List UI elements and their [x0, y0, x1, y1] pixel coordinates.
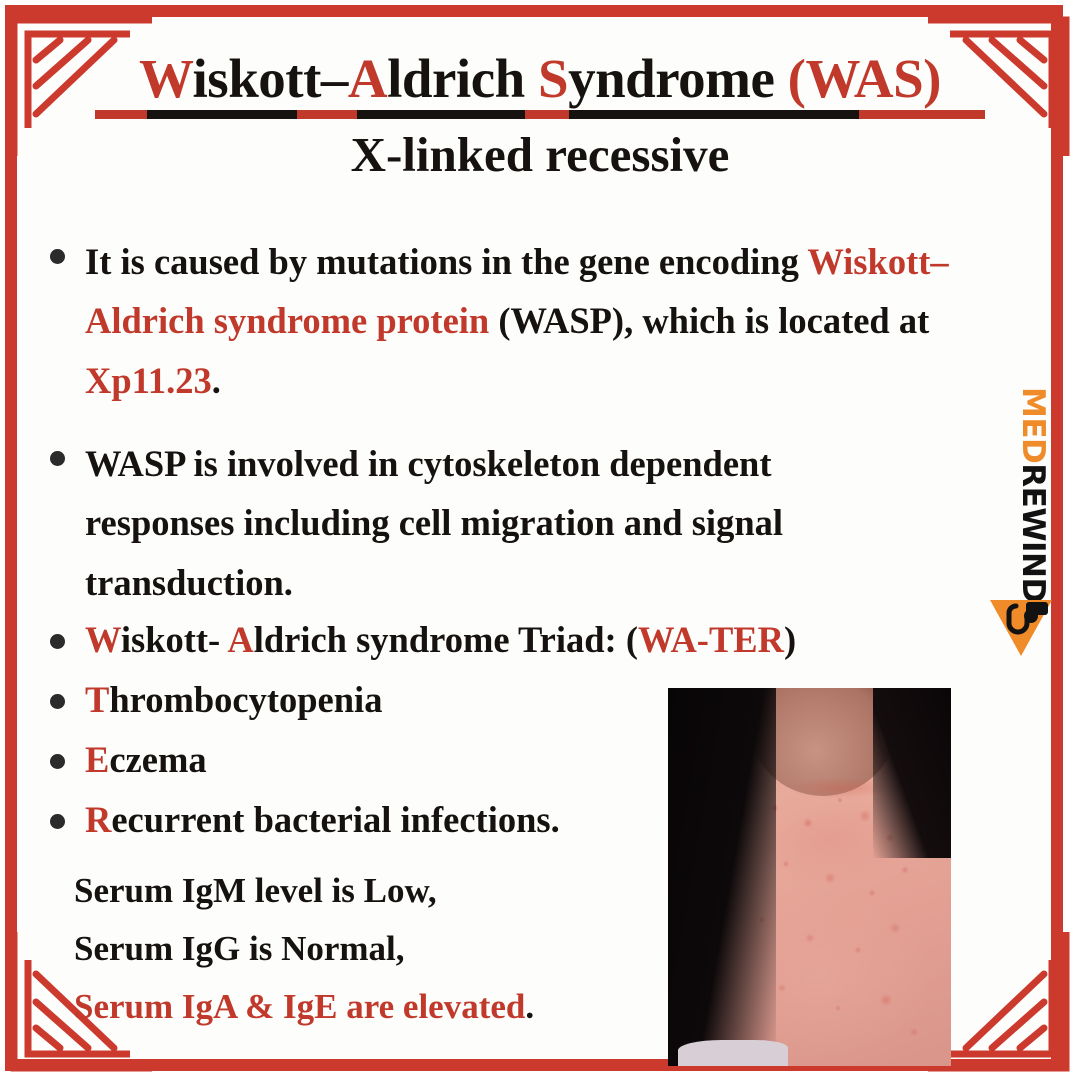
bullet-dot [50, 814, 65, 829]
bullet-text: It is caused by mutations in the gene en… [85, 232, 950, 410]
watermark-brand-text: MEDREWIND [1015, 387, 1051, 597]
title-underline [95, 110, 985, 119]
page-subtitle: X-linked recessive [22, 129, 1058, 180]
bullet-item-recurrent-infections: Recurrent bacterial infections. [50, 800, 690, 841]
title-abbreviation: (WAS) [788, 48, 941, 109]
title-letter-a: A [348, 48, 387, 109]
bullet-item-cause: It is caused by mutations in the gene en… [50, 232, 950, 410]
watermark-medrewind: MEDREWIND [990, 382, 1052, 682]
bullet-text: Eczema [85, 740, 207, 781]
clinical-photo-eczema-rash [668, 688, 951, 1066]
bullet-item-triad: Wiskott- Aldrich syndrome Triad: (WA-TER… [50, 620, 1000, 661]
title-letter-w: W [139, 48, 193, 109]
bullet-item-function: WASP is involved in cytoskeleton depende… [50, 434, 930, 612]
lab-line-igg: Serum IgG is Normal, [74, 928, 674, 970]
bullet-text: Thrombocytopenia [85, 680, 382, 721]
title-dash: – [321, 48, 348, 109]
bullet-dot [50, 634, 65, 649]
infographic-page: Wiskott–Aldrich Syndrome (WAS) X-linked … [0, 0, 1080, 1088]
title-word-yndrome: yndrome [568, 48, 788, 109]
title-block: Wiskott–Aldrich Syndrome (WAS) X-linked … [22, 50, 1058, 181]
bullet-dot [50, 694, 65, 709]
bullet-dot [50, 249, 65, 264]
bullet-item-eczema: Eczema [50, 740, 650, 781]
bullet-text: WASP is involved in cytoskeleton depende… [85, 434, 930, 612]
bullet-dot [50, 754, 65, 769]
lab-line-igm: Serum IgM level is Low, [74, 870, 674, 912]
watermark-brand-second: REWIND [1015, 463, 1051, 602]
bullet-dot [50, 451, 65, 466]
photo-background-left [668, 688, 776, 1066]
bullet-text: Wiskott- Aldrich syndrome Triad: (WA-TER… [85, 620, 796, 661]
bullet-item-thrombocytopenia: Thrombocytopenia [50, 680, 650, 721]
bullet-text: Recurrent bacterial infections. [85, 800, 560, 841]
photo-diaper-edge [678, 1040, 788, 1066]
watermark-brand-first: MED [1015, 387, 1051, 463]
title-word-ldrich: ldrich [387, 48, 538, 109]
title-word-iskott: iskott [193, 48, 321, 109]
title-letter-s: S [538, 48, 568, 109]
watermark-logo-icon [986, 594, 1056, 660]
page-title: Wiskott–Aldrich Syndrome (WAS) [22, 50, 1058, 107]
lab-line-iga-ige: Serum IgA & IgE are elevated. [74, 986, 694, 1028]
photo-background-right [873, 688, 951, 858]
